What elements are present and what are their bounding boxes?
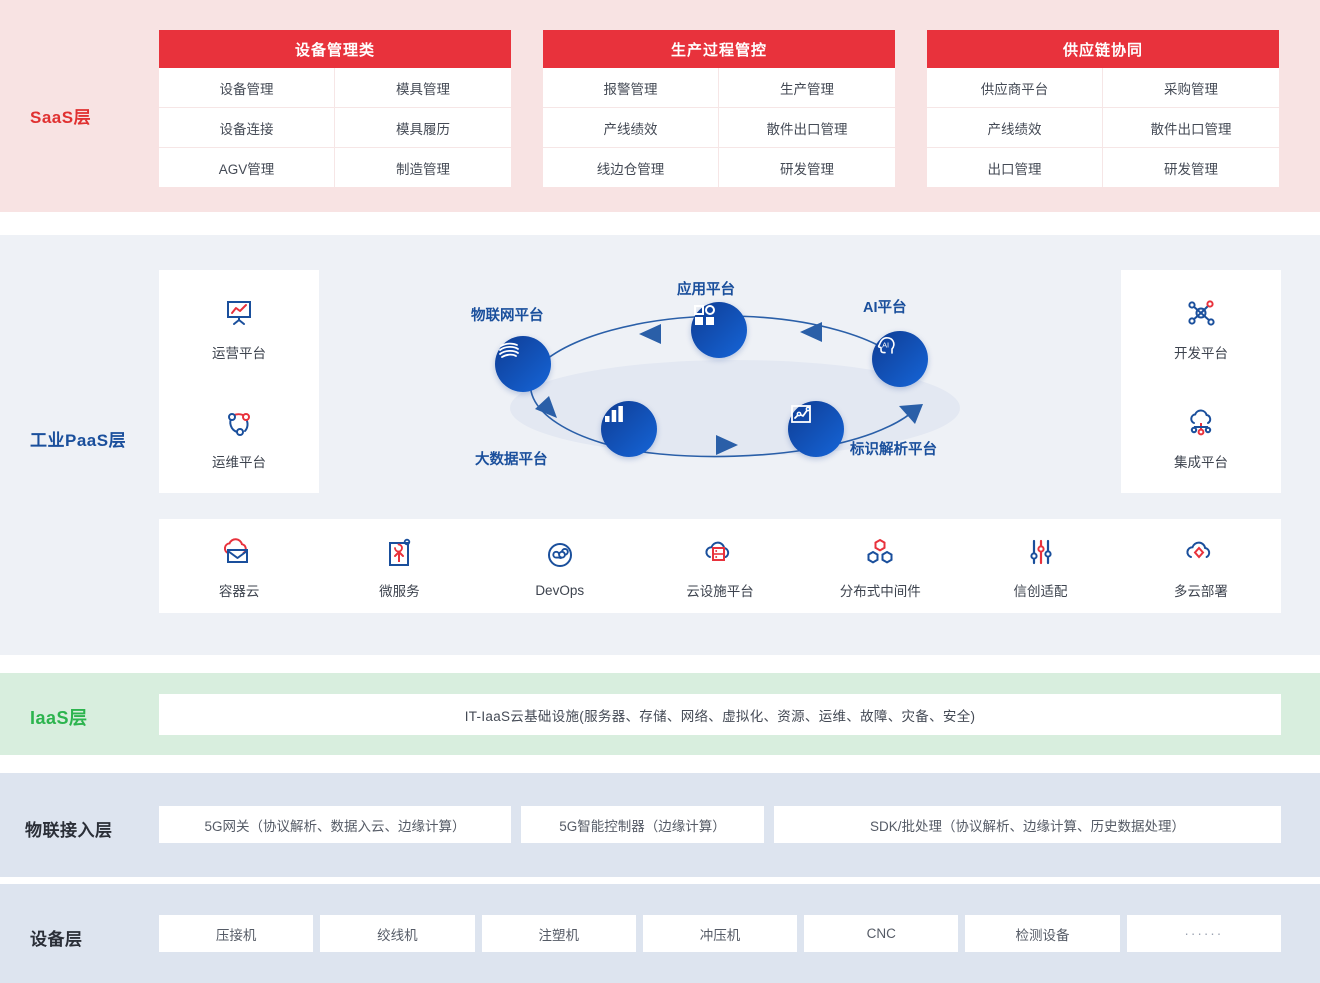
iaas-layer-label: IaaS层	[30, 704, 88, 730]
saas-group-title: 生产过程管控	[543, 30, 895, 68]
globe-sphere-icon	[495, 336, 523, 364]
saas-item[interactable]: 出口管理	[927, 148, 1103, 187]
cloud-integration-icon	[1183, 402, 1219, 442]
cycle-node-bigdata-platform[interactable]	[601, 401, 657, 457]
paas-technology-strip: 容器云 微服务 DevOps	[159, 519, 1281, 613]
saas-item[interactable]: 采购管理	[1103, 68, 1279, 108]
paas-tech-multicloud[interactable]: 多云部署	[1121, 532, 1281, 600]
paas-tech-label: 容器云	[219, 580, 260, 600]
saas-group-title: 设备管理类	[159, 30, 511, 68]
device-item-more[interactable]: ······	[1127, 915, 1281, 952]
paas-tech-label: 多云部署	[1174, 580, 1228, 600]
cycle-node-label: 标识解析平台	[850, 438, 937, 459]
device-item[interactable]: 检测设备	[965, 915, 1119, 952]
cycle-node-label: 大数据平台	[475, 448, 548, 469]
cycle-node-label: 应用平台	[677, 278, 735, 299]
saas-group-title: 供应链协同	[927, 30, 1279, 68]
saas-item[interactable]: 产线绩效	[543, 108, 719, 148]
paas-card-label: 开发平台	[1174, 342, 1228, 362]
hexagons-icon	[863, 532, 897, 572]
iot-layer-label: 物联接入层	[25, 816, 113, 841]
device-item[interactable]: 压接机	[159, 915, 313, 952]
paas-tech-label: 信创适配	[1014, 580, 1068, 600]
paas-card-maintenance-platform[interactable]: 运维平台	[159, 379, 319, 493]
presentation-chart-icon	[221, 293, 257, 333]
saas-item[interactable]: 设备管理	[159, 68, 335, 108]
paas-tech-xinchuang-adaptation[interactable]: 信创适配	[960, 532, 1120, 600]
paas-tech-label: 云设施平台	[686, 580, 754, 600]
cycle-node-iot-platform[interactable]	[495, 336, 551, 392]
sliders-icon	[1024, 532, 1058, 572]
device-layer-label: 设备层	[30, 925, 83, 950]
saas-group-items: 供应商平台 采购管理 产线绩效 散件出口管理 出口管理 研发管理	[927, 68, 1279, 187]
saas-group-device-management: 设备管理类 设备管理 模具管理 设备连接 模具履历 AGV管理 制造管理	[159, 30, 511, 187]
cycle-node-application-platform[interactable]	[691, 302, 747, 358]
saas-group-supply-chain: 供应链协同 供应商平台 采购管理 产线绩效 散件出口管理 出口管理 研发管理	[927, 30, 1279, 187]
device-item[interactable]: 绞线机	[320, 915, 474, 952]
paas-tech-label: 微服务	[379, 580, 420, 600]
device-item[interactable]: CNC	[804, 915, 958, 952]
hub-connections-icon	[1183, 293, 1219, 333]
svg-text:AI: AI	[882, 340, 889, 349]
paas-card-operations-platform[interactable]: 运营平台	[159, 270, 319, 384]
cycle-node-label: 物联网平台	[471, 304, 544, 325]
iot-item-5g-controller[interactable]: 5G智能控制器（边缘计算）	[521, 806, 764, 843]
iot-item-sdk-batch[interactable]: SDK/批处理（协议解析、边缘计算、历史数据处理）	[774, 806, 1281, 843]
saas-item[interactable]: 研发管理	[719, 148, 895, 187]
saas-item[interactable]: 产线绩效	[927, 108, 1103, 148]
iot-item-5g-gateway[interactable]: 5G网关（协议解析、数据入云、边缘计算）	[159, 806, 511, 843]
iot-access-row: 5G网关（协议解析、数据入云、边缘计算） 5G智能控制器（边缘计算） SDK/批…	[159, 806, 1281, 843]
iaas-infrastructure-bar[interactable]: IT-IaaS云基础设施(服务器、存储、网络、虚拟化、资源、运维、故障、灾备、安…	[159, 694, 1281, 735]
paas-tech-cloud-infra[interactable]: 云设施平台	[640, 532, 800, 600]
paas-tech-container-cloud[interactable]: 容器云	[159, 532, 319, 600]
microservice-icon	[382, 532, 416, 572]
paas-tech-microservice[interactable]: 微服务	[319, 532, 479, 600]
saas-item[interactable]: 散件出口管理	[1103, 108, 1279, 148]
bar-chart-icon	[601, 401, 627, 427]
saas-item[interactable]: 设备连接	[159, 108, 335, 148]
paas-tech-middleware[interactable]: 分布式中间件	[800, 532, 960, 600]
cycle-node-ai-platform[interactable]: AI	[872, 331, 928, 387]
saas-group-production-control: 生产过程管控 报警管理 生产管理 产线绩效 散件出口管理 线边仓管理 研发管理	[543, 30, 895, 187]
container-cloud-icon	[220, 532, 258, 572]
paas-tech-label: 分布式中间件	[840, 580, 921, 600]
paas-card-label: 运营平台	[212, 342, 266, 362]
saas-layer-label: SaaS层	[30, 103, 91, 128]
nodes-network-icon	[221, 402, 257, 442]
saas-item[interactable]: AGV管理	[159, 148, 335, 187]
multicloud-icon	[1182, 532, 1220, 572]
saas-item[interactable]: 制造管理	[335, 148, 511, 187]
device-item[interactable]: 注塑机	[482, 915, 636, 952]
paas-tech-devops[interactable]: DevOps	[480, 535, 640, 598]
architecture-diagram: SaaS层 工业PaaS层 IaaS层 物联接入层 设备层 设备管理类 设备管理…	[0, 0, 1320, 983]
grid-apps-icon	[691, 302, 717, 328]
paas-cycle-diagram: 物联网平台 应用平台 AI AI平台	[455, 258, 995, 503]
saas-item[interactable]: 模具管理	[335, 68, 511, 108]
paas-layer-label: 工业PaaS层	[30, 426, 126, 451]
cycle-node-label: AI平台	[863, 296, 907, 317]
saas-group-items: 报警管理 生产管理 产线绩效 散件出口管理 线边仓管理 研发管理	[543, 68, 895, 187]
saas-item[interactable]: 供应商平台	[927, 68, 1103, 108]
paas-card-label: 运维平台	[212, 451, 266, 471]
saas-group-items: 设备管理 模具管理 设备连接 模具履历 AGV管理 制造管理	[159, 68, 511, 187]
ai-head-icon: AI	[872, 331, 900, 359]
paas-card-integration-platform[interactable]: 集成平台	[1121, 379, 1281, 493]
paas-card-label: 集成平台	[1174, 451, 1228, 471]
paas-card-development-platform[interactable]: 开发平台	[1121, 270, 1281, 384]
device-item[interactable]: 冲压机	[643, 915, 797, 952]
saas-item[interactable]: 报警管理	[543, 68, 719, 108]
cloud-server-icon	[701, 532, 739, 572]
infinity-icon	[543, 535, 577, 575]
saas-item[interactable]: 生产管理	[719, 68, 895, 108]
analytics-chart-icon	[788, 401, 814, 427]
saas-item[interactable]: 线边仓管理	[543, 148, 719, 187]
saas-item[interactable]: 研发管理	[1103, 148, 1279, 187]
cycle-node-identity-resolution-platform[interactable]	[788, 401, 844, 457]
paas-tech-label: DevOps	[535, 583, 584, 598]
saas-item[interactable]: 模具履历	[335, 108, 511, 148]
device-row: 压接机 绞线机 注塑机 冲压机 CNC 检测设备 ······	[159, 915, 1281, 952]
saas-item[interactable]: 散件出口管理	[719, 108, 895, 148]
